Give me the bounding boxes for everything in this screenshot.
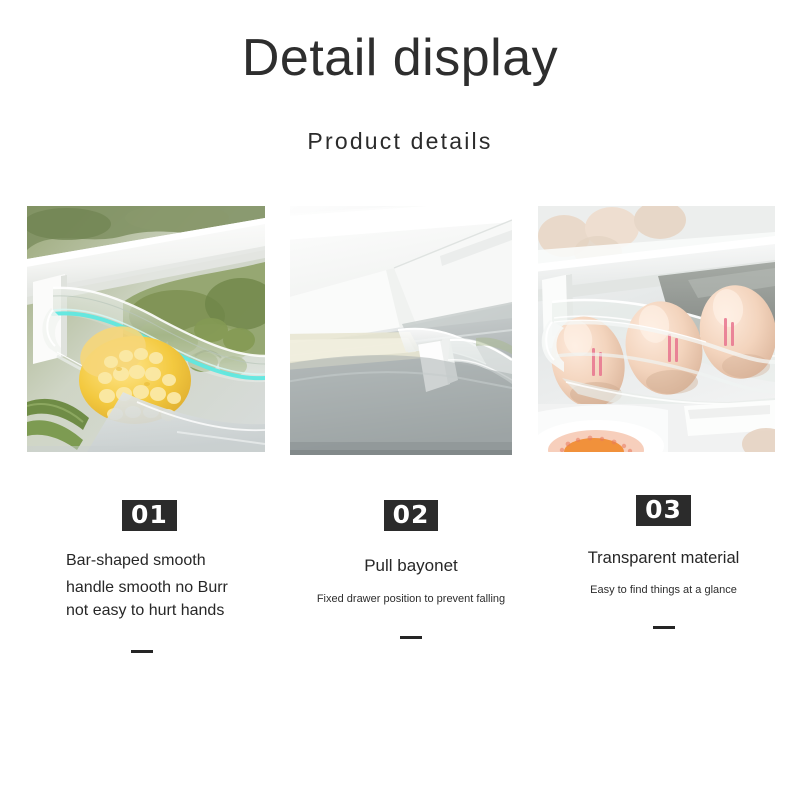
product-image-1[interactable] [27,206,265,452]
feature-number-badge-1: 01 [122,500,177,531]
feature-description-1-line-1: Bar-shaped smooth [66,549,277,572]
feature-block-2: 02 Pull bayonet Fixed drawer position to… [300,500,522,639]
divider-dash-1 [131,650,153,653]
page-title: Detail display [0,30,800,87]
badge-wrap-2: 02 [300,500,522,531]
feature-title-2: Pull bayonet [300,556,522,576]
product-image-2[interactable] [290,206,512,455]
divider-dash-3 [653,626,675,629]
bayonet-clip-photo [290,206,512,455]
drawer-handle-photo [27,206,265,452]
feature-description-1-line-3: not easy to hurt hands [66,599,277,622]
page-subtitle: Product details [0,128,800,155]
product-detail-page: Detail display Product details [0,0,800,800]
badge-wrap-1: 01 [122,500,277,531]
divider-dash-2 [400,636,422,639]
product-image-3[interactable] [538,206,775,452]
feature-title-3: Transparent material [545,548,782,568]
feature-number-badge-3: 03 [636,495,691,526]
product-image-gallery [0,206,800,456]
feature-number-badge-2: 02 [384,500,439,531]
feature-description-1-line-2: handle smooth no Burr [66,576,277,599]
feature-subtitle-3: Easy to find things at a glance [545,583,782,597]
badge-wrap-3: 03 [545,495,782,526]
feature-block-3: 03 Transparent material Easy to find thi… [545,495,782,629]
feature-subtitle-2: Fixed drawer position to prevent falling [300,592,522,606]
feature-description-1: Bar-shaped smooth handle smooth no Burr … [66,549,277,622]
egg-drawer-photo [538,206,775,452]
feature-block-1: 01 Bar-shaped smooth handle smooth no Bu… [27,500,277,653]
